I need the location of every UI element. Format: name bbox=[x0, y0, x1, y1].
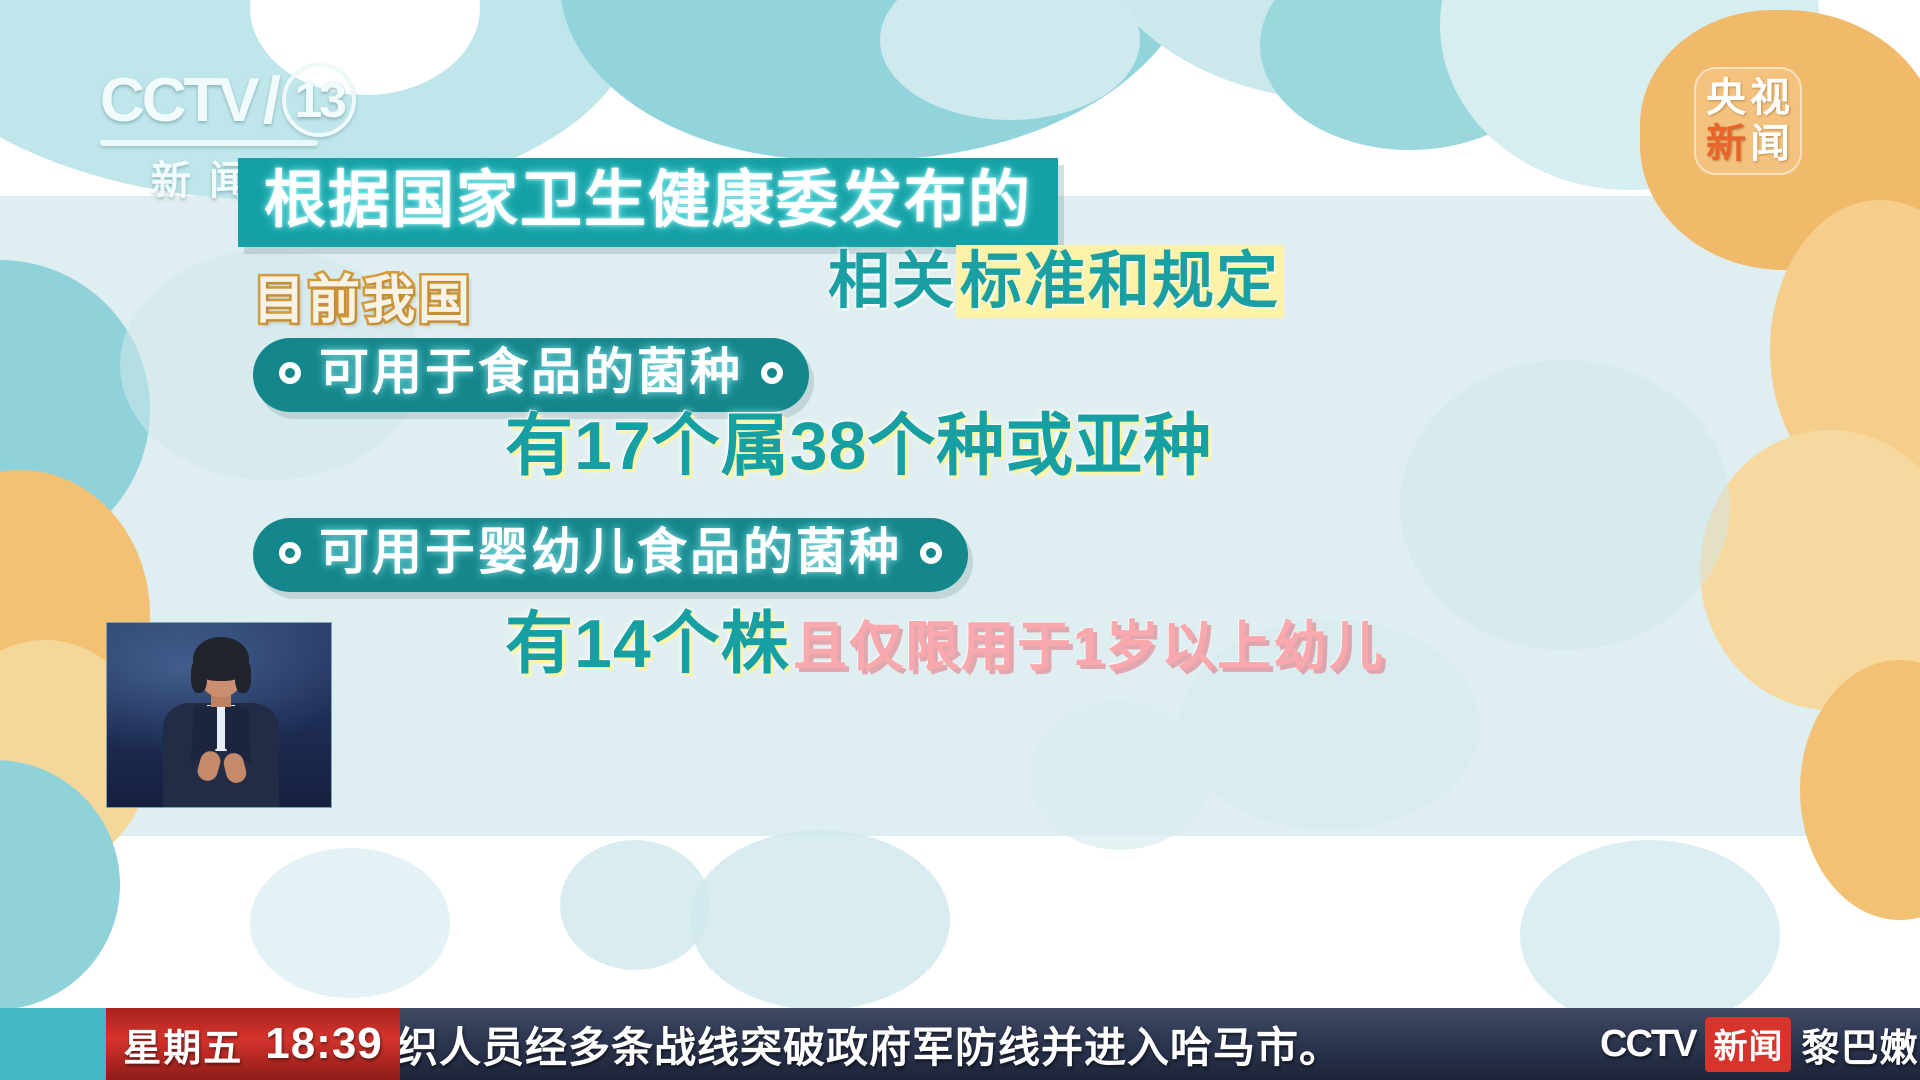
watermark-char-4: 闻 bbox=[1748, 121, 1792, 167]
restriction-note: 且仅限用于1岁以上幼儿 bbox=[793, 620, 1385, 674]
ticker-time-block: 星期五 18:39 bbox=[106, 1008, 400, 1080]
ticker-left-accent bbox=[0, 1008, 106, 1080]
channel-logo-slash: / bbox=[263, 62, 278, 138]
decorative-blob bbox=[250, 848, 450, 998]
ticker-weekday: 星期五 bbox=[123, 1017, 243, 1072]
cctv-news-watermark: 央 视 新 闻 bbox=[1694, 67, 1802, 175]
category-pill-label: 可用于食品的菌种 bbox=[319, 344, 743, 402]
channel-logo: CCTV / 13 新闻 bbox=[100, 62, 400, 172]
stat-value-infant-food: 有14个株 bbox=[505, 610, 790, 678]
category-pill-food: 可用于食品的菌种 bbox=[253, 338, 809, 412]
bullet-dot-icon bbox=[920, 542, 942, 564]
decorative-blob bbox=[1400, 360, 1730, 650]
channel-logo-underline bbox=[100, 140, 318, 146]
anchor-hair-side-left bbox=[191, 659, 207, 693]
bullet-dot-icon bbox=[279, 542, 301, 564]
anchor-video-inset bbox=[106, 622, 332, 808]
decorative-blob bbox=[1030, 700, 1210, 850]
ticker-clock: 18:39 bbox=[265, 1019, 383, 1069]
ticker-scroll-area: 织人员经多条战线突破政府军防线并进入哈马市。 bbox=[400, 1008, 1590, 1080]
stat-value-food: 有17个属38个种或亚种 bbox=[505, 412, 1212, 480]
category-pill-label: 可用于婴幼儿食品的菌种 bbox=[319, 524, 902, 582]
headline-second-line: 相关标准和规定 bbox=[828, 240, 1284, 324]
watermark-char-2: 视 bbox=[1748, 75, 1792, 121]
headline-banner-text: 根据国家卫生健康委发布的 bbox=[264, 166, 1032, 235]
ticker-brand-news: 新闻 bbox=[1705, 1017, 1791, 1072]
anchor-hair-side-right bbox=[235, 659, 251, 693]
watermark-char-3: 新 bbox=[1704, 121, 1748, 167]
decorative-blob bbox=[1520, 840, 1780, 1030]
channel-logo-main: CCTV / 13 bbox=[100, 62, 400, 138]
headline-banner: 根据国家卫生健康委发布的 bbox=[238, 158, 1058, 247]
watermark-char-1: 央 bbox=[1704, 75, 1748, 121]
ticker-brand-cctv: CCTV bbox=[1600, 1023, 1695, 1066]
lead-in-label: 目前我国 bbox=[253, 258, 473, 333]
decorative-blob bbox=[690, 830, 950, 1010]
bullet-dot-icon bbox=[761, 362, 783, 384]
channel-logo-number: 13 bbox=[282, 63, 356, 137]
bullet-dot-icon bbox=[279, 362, 301, 384]
headline-second-line-highlight: 标准和规定 bbox=[956, 245, 1284, 318]
channel-logo-text: CCTV bbox=[100, 65, 257, 136]
ticker-brand-block: CCTV 新闻 黎巴嫩 bbox=[1590, 1008, 1920, 1080]
bottom-ticker: 星期五 18:39 织人员经多条战线突破政府军防线并进入哈马市。 CCTV 新闻… bbox=[0, 1008, 1920, 1080]
ticker-brand-extra: 黎巴嫩 bbox=[1801, 1017, 1918, 1072]
headline-second-line-plain: 相关 bbox=[828, 247, 956, 316]
ticker-scroll-text: 织人员经多条战线突破政府军防线并进入哈马市。 bbox=[400, 1014, 1342, 1075]
broadcast-screen: CCTV / 13 新闻 央 视 新 闻 根据国家卫生健康委发布的 相关标准和规… bbox=[0, 0, 1920, 1080]
category-pill-infant-food: 可用于婴幼儿食品的菌种 bbox=[253, 518, 968, 592]
decorative-blob bbox=[560, 840, 710, 970]
